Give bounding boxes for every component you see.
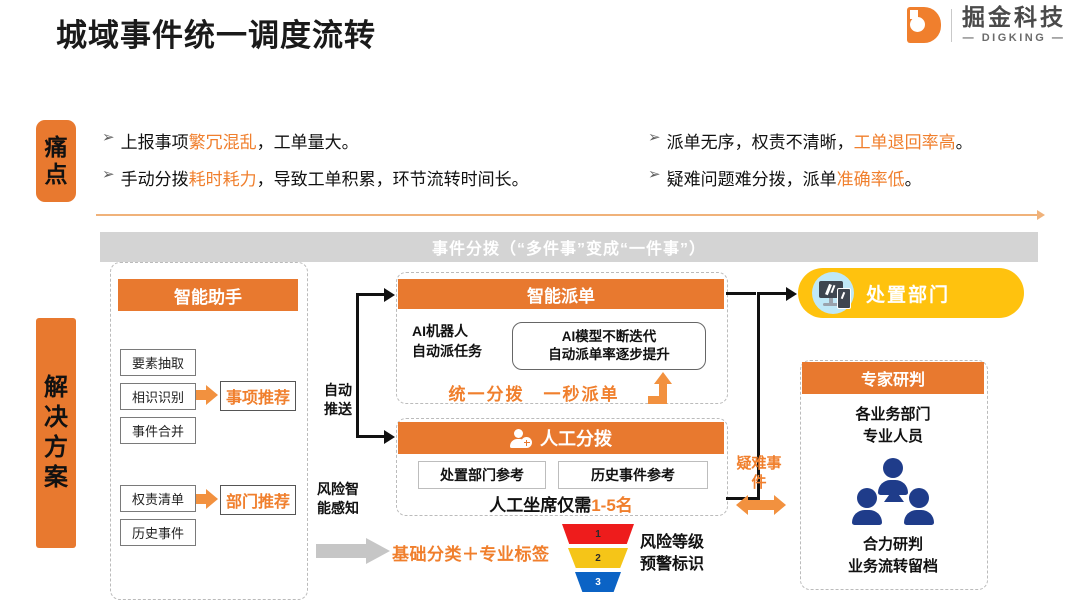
smart-dispatch-title: 智能派单: [398, 279, 724, 309]
funnel-caption-line2: 预警标识: [640, 554, 704, 576]
logo-cn-text: 掘金科技: [962, 6, 1066, 29]
hard-case-label: 疑难事件: [736, 455, 782, 493]
manual-reference-department[interactable]: 处置部门参考: [418, 461, 546, 489]
dispatch-slogan: 统一分拨 一秒派单: [424, 380, 644, 405]
expert-archive-line: 业务流转留档: [802, 556, 984, 578]
manual-seats-pre: 人工坐席仅需: [489, 496, 591, 515]
auto-push-label: 自动推送: [318, 381, 358, 419]
pain-bullet: ➢ 手动分拨 耗时耗力 ，导致工单积累，环节流转时间长。: [102, 165, 529, 190]
up-arrow-icon: [648, 374, 674, 404]
connector-to-manual: [356, 435, 386, 438]
person-add-icon: [510, 428, 532, 448]
manual-reference-history[interactable]: 历史事件参考: [558, 461, 708, 489]
orange-arrow-icon: [196, 489, 218, 509]
funnel-caption: 风险等级 预警标识: [640, 532, 704, 577]
double-arrow-icon: [736, 495, 786, 515]
pain-text-pre: 派单无序，权责不清晰，: [667, 128, 854, 153]
dispatch-banner: 事件分拨（“多件事”变成“一件事”）: [100, 232, 1038, 262]
pain-column-right: ➢ 派单无序，权责不清晰， 工单退回率高 。 ➢ 疑难问题难分拨，派单 准确率低…: [648, 128, 973, 202]
assistant-title: 智能助手: [118, 279, 298, 311]
ai-model-line1: AI模型不断迭代: [562, 328, 657, 346]
pain-text-post: ，工单量大。: [257, 128, 359, 153]
expert-collab-line: 合力研判: [802, 534, 984, 556]
pain-text-post: 。: [956, 128, 973, 153]
ai-robot-line: AI机器人: [412, 322, 482, 342]
expert-bottom-text: 合力研判 业务流转留档: [802, 534, 984, 578]
assistant-output-item-recommendation[interactable]: 事项推荐: [220, 381, 296, 411]
pain-text-pre: 疑难问题难分拨，派单: [667, 165, 837, 190]
manual-seats-count: 1-5名: [591, 496, 633, 515]
risk-funnel-icon: 1 2 3: [562, 524, 634, 596]
manual-seats-text: 人工坐席仅需1-5名: [398, 491, 724, 516]
funnel-level-3: 3: [575, 572, 621, 592]
connector-dispatch-out: [726, 292, 756, 295]
assistant-input-item[interactable]: 要素抽取: [120, 349, 196, 376]
pain-label-line2: 点: [45, 161, 68, 188]
solution-label-char: 案: [44, 463, 68, 493]
page-title: 城域事件统一调度流转: [56, 10, 376, 55]
assistant-input-item[interactable]: 事件合并: [120, 417, 196, 444]
gray-arrow-icon: [316, 538, 390, 564]
pain-text-pre: 上报事项: [121, 128, 189, 153]
funnel-caption-line1: 风险等级: [640, 532, 704, 554]
expert-top-text: 各业务部门 专业人员: [802, 404, 984, 448]
digking-logo-mark-icon: [907, 7, 941, 43]
solution-label: 解 决 方 案: [36, 318, 76, 548]
bullet-arrow-icon: ➢: [648, 128, 661, 148]
solution-label-char: 解: [44, 373, 68, 403]
logo-en-text: — DIGKING —: [963, 33, 1066, 44]
pain-text-highlight: 工单退回率高: [854, 128, 956, 153]
bullet-arrow-icon: ➢: [648, 165, 661, 185]
bullet-arrow-icon: ➢: [102, 165, 115, 185]
assistant-input-item[interactable]: 历史事件: [120, 519, 196, 546]
arrow-head-icon: [786, 287, 797, 301]
tagging-label: 基础分类＋专业标签: [392, 540, 550, 565]
brand-logo: 掘金科技 — DIGKING —: [907, 6, 1066, 44]
department-pill[interactable]: 处置部门: [798, 268, 1024, 318]
slide-canvas: 城域事件统一调度流转 掘金科技 — DIGKING — 痛 点 ➢ 上报事项 繁…: [0, 0, 1080, 607]
auto-task-line: 自动派任务: [412, 342, 482, 362]
expert-staff-line: 专业人员: [802, 426, 984, 448]
ai-model-line2: 自动派单率逐步提升: [548, 346, 670, 364]
auto-push-text: 自动推送: [324, 382, 352, 417]
ai-model-pill: AI模型不断迭代 自动派单率逐步提升: [512, 322, 706, 370]
pain-column-left: ➢ 上报事项 繁冗混乱 ，工单量大。 ➢ 手动分拨 耗时耗力 ，导致工单积累，环…: [102, 128, 529, 202]
pain-text-highlight: 准确率低: [837, 165, 905, 190]
expert-title: 专家研判: [802, 362, 984, 394]
pain-text-highlight: 繁冗混乱: [189, 128, 257, 153]
department-title: 处置部门: [866, 280, 950, 307]
pain-bullet: ➢ 上报事项 繁冗混乱 ，工单量大。: [102, 128, 529, 153]
section-divider-arrow: [96, 214, 1038, 216]
pain-bullet: ➢ 派单无序，权责不清晰， 工单退回率高 。: [648, 128, 973, 153]
risk-sense-label: 风险智能感知: [316, 480, 360, 518]
assistant-input-item[interactable]: 相识识别: [120, 383, 196, 410]
pain-text-post: ，导致工单积累，环节流转时间长。: [257, 165, 529, 190]
orange-arrow-icon: [196, 385, 218, 405]
pain-text-post: 。: [905, 165, 922, 190]
expert-dept-line: 各业务部门: [802, 404, 984, 426]
connector-to-department: [757, 292, 789, 295]
risk-sense-text: 风险智能感知: [317, 481, 359, 516]
assistant-output-item-department[interactable]: 部门推荐: [220, 485, 296, 515]
solution-label-char: 方: [44, 433, 68, 463]
logo-divider: [951, 9, 952, 42]
connector-to-dispatch: [356, 293, 386, 296]
funnel-level-2: 2: [568, 548, 628, 568]
manual-dispatch-title: 人工分拨: [398, 422, 724, 454]
pain-bullet: ➢ 疑难问题难分拨，派单 准确率低 。: [648, 165, 973, 190]
assistant-input-item[interactable]: 权责清单: [120, 485, 196, 512]
bullet-arrow-icon: ➢: [102, 128, 115, 148]
smart-dispatch-left-text: AI机器人 自动派任务: [412, 322, 482, 361]
pain-label-line1: 痛: [45, 134, 68, 161]
arrow-head-icon: [384, 288, 395, 302]
funnel-level-1: 1: [562, 524, 634, 544]
monitor-tablet-icon: [812, 272, 854, 314]
three-people-icon: [838, 458, 948, 530]
pain-text-pre: 手动分拨: [121, 165, 189, 190]
pain-text-highlight: 耗时耗力: [189, 165, 257, 190]
pain-points-area: ➢ 上报事项 繁冗混乱 ，工单量大。 ➢ 手动分拨 耗时耗力 ，导致工单积累，环…: [96, 118, 1046, 208]
solution-label-char: 决: [44, 403, 68, 433]
manual-dispatch-title-text: 人工分拨: [540, 425, 612, 451]
arrow-head-icon: [384, 430, 395, 444]
pain-points-label: 痛 点: [36, 120, 76, 202]
